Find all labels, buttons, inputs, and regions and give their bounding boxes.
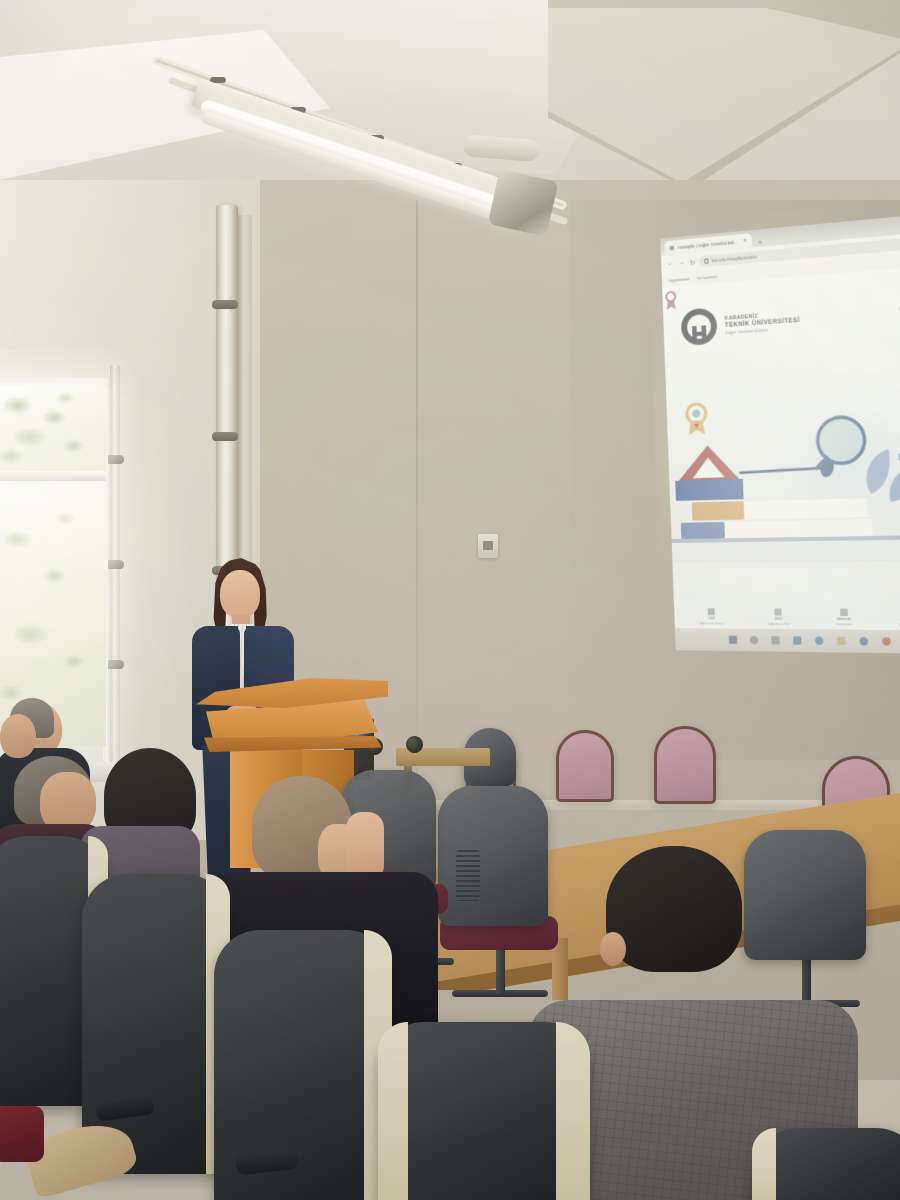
presenter-head (220, 570, 260, 618)
store-icon[interactable] (792, 636, 801, 644)
chrome-icon[interactable] (881, 637, 890, 646)
start-icon[interactable] (728, 636, 736, 644)
mail-icon (840, 608, 848, 615)
auditorium-seat-edge (556, 1022, 590, 1200)
education-hero-illustration (666, 381, 900, 545)
pipe-clamp (212, 300, 238, 309)
edge-icon[interactable] (814, 637, 823, 645)
search-icon[interactable] (749, 636, 757, 644)
windows-taskbar (675, 628, 900, 654)
wall-outlet (478, 534, 498, 558)
auditorium-seat-edge (378, 1022, 408, 1200)
light-endcap (488, 169, 559, 237)
attendee-trouser-cuff (0, 1106, 44, 1162)
auditorium-seat (378, 1022, 590, 1200)
attendee-head (0, 714, 36, 758)
quick-link-sub: Öğrenci Bilgi Sistemi (700, 622, 724, 625)
mini-speaker (406, 736, 423, 753)
pipe-clamp (106, 455, 124, 464)
pipe-clamp (106, 660, 124, 669)
site-logo-text: KARADENİZ TEKNİK ÜNİVERSİTESİ Sağlık Yön… (725, 310, 801, 335)
quick-link-sub: Posta Sistemi (836, 623, 853, 626)
wall-seam (416, 200, 418, 820)
lock-icon (705, 258, 709, 263)
student-system-icon (708, 608, 715, 615)
browser-window: Anasayfa | Sağlık Yönetimi Böl... ✕ + ← … (660, 213, 900, 653)
seminar-room-photo: Anasayfa | Sağlık Yönetimi Böl... ✕ + ← … (0, 0, 900, 1200)
address-bar-url: ktu.edu.tr/saglikyonetimi (712, 254, 757, 263)
mauve-side-chair (654, 726, 716, 804)
attendee-ear (600, 932, 626, 966)
window-pane-top (0, 386, 106, 474)
page-favicon (669, 245, 674, 250)
medal-badge-icon (687, 404, 707, 436)
quick-link-sub: Sağlık Bilgi Sistemi (767, 622, 790, 625)
pipe-clamp (106, 560, 124, 569)
quick-link-label: SBİS (775, 617, 783, 621)
task-view-icon[interactable] (771, 636, 780, 644)
quick-links-row: ÖBS Öğrenci Bilgi Sistemi SBİS Sağlık Bi… (674, 604, 900, 630)
office-chair-post (496, 944, 505, 994)
close-icon[interactable]: ✕ (743, 238, 747, 244)
award-ribbon-icon (664, 290, 677, 311)
back-icon[interactable]: ← (667, 260, 674, 268)
attendee-hair (606, 846, 742, 972)
forward-icon[interactable]: → (678, 259, 685, 267)
wall-conduit-pipe-thin (110, 365, 120, 785)
browser-tab-title: Anasayfa | Sağlık Yönetimi Böl... (677, 239, 737, 249)
office-swivel-chair (744, 830, 866, 960)
window-mullion (0, 471, 106, 481)
document-icon (775, 608, 782, 615)
pipe-clamp (212, 432, 238, 441)
quick-link-sbis[interactable]: SBİS Sağlık Bilgi Sistemi (767, 608, 790, 626)
quick-link-label: ÖBS (708, 616, 715, 620)
auditorium-seat (752, 1128, 900, 1200)
mauve-side-chair (556, 730, 614, 802)
webpage-content: KARADENİZ TEKNİK ÜNİVERSİTESİ Sağlık Yön… (662, 266, 900, 654)
file-explorer-icon[interactable] (836, 637, 845, 645)
reload-icon[interactable]: ↻ (689, 258, 695, 266)
site-logo[interactable]: KARADENİZ TEKNİK ÜNİVERSİTESİ Sağlık Yön… (679, 299, 801, 348)
new-tab-button[interactable]: + (754, 239, 767, 247)
auditorium-seat-edge (752, 1128, 776, 1200)
quick-link-obs[interactable]: ÖBS Öğrenci Bilgi Sistemi (699, 608, 723, 625)
teams-icon[interactable] (859, 637, 868, 646)
window-foliage-top (0, 386, 106, 474)
podium-lip (204, 736, 382, 752)
bookmark-item[interactable]: Yer İşaretleri (696, 274, 717, 280)
bookmark-item[interactable]: Uygulamalar (669, 277, 690, 283)
quick-link-label: Webmail (837, 617, 851, 621)
projected-browser-window: Anasayfa | Sağlık Yönetimi Böl... ✕ + ← … (660, 213, 900, 653)
ktu-logo-mark (679, 305, 720, 348)
office-swivel-chair (438, 786, 548, 926)
quick-link-webmail[interactable]: Webmail Posta Sistemi (835, 608, 853, 626)
